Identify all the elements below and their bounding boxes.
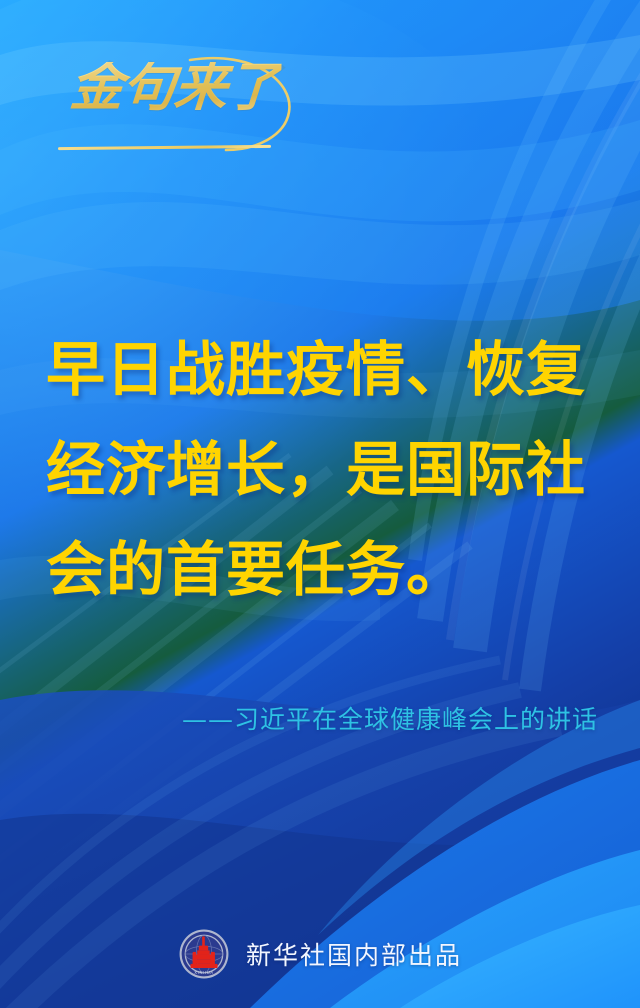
quote-line-1: 早日战胜疫情、恢复 bbox=[0, 320, 640, 420]
brand-logo: 金句来了 bbox=[58, 46, 298, 158]
footer-bar: XINHUA 新华社国内部出品 bbox=[0, 928, 640, 980]
quote-line-3: 会的首要任务。 bbox=[0, 520, 640, 620]
quote-line-2: 经济增长，是国际社 bbox=[0, 420, 640, 520]
poster-root: 金句来了 早日战胜疫情、恢复 经济增长，是国际社 会的首要任务。 ——习近平在全… bbox=[0, 0, 640, 1008]
brand-title: 金句来了 bbox=[68, 62, 282, 115]
footer-credit-text: 新华社国内部出品 bbox=[246, 936, 462, 972]
footer-logo-caption: XINHUA bbox=[194, 970, 213, 975]
xinhua-agency-logo-icon: XINHUA bbox=[178, 928, 230, 980]
quote-block: 早日战胜疫情、恢复 经济增长，是国际社 会的首要任务。 bbox=[0, 320, 640, 620]
quote-attribution: ——习近平在全球健康峰会上的讲话 bbox=[0, 700, 640, 736]
